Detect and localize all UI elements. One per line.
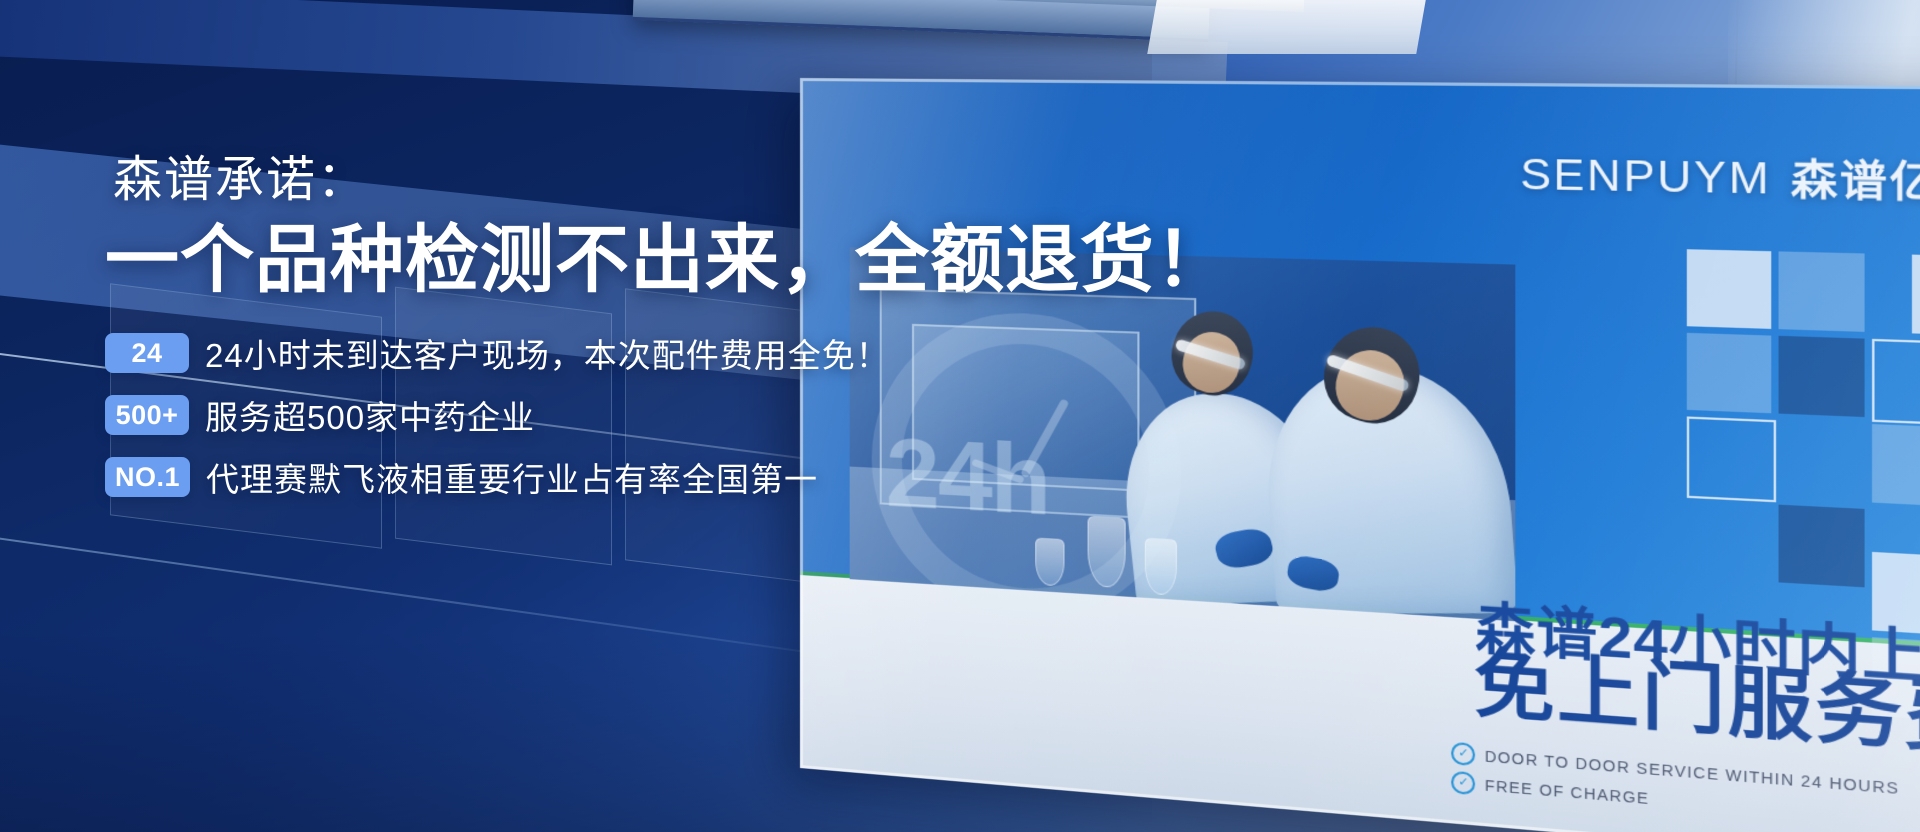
check-circle-icon: ✓	[1452, 742, 1476, 766]
promo-bullet-item: 24 24小时未到达客户现场，本次配件费用全免！	[105, 329, 1165, 377]
mosaic-square	[1687, 333, 1771, 413]
check-circle-icon: ✓	[1452, 771, 1476, 796]
mosaic-square	[1872, 424, 1920, 507]
mosaic-square	[1779, 336, 1865, 417]
promo-bullet-list: 24 24小时未到达客户现场，本次配件费用全免！ 500+ 服务超500家中药企…	[105, 329, 1165, 501]
logo-text-cn: 森谱亿铭	[1791, 145, 1920, 210]
mosaic-square	[1687, 416, 1776, 502]
promo-bullet-item: NO.1 代理赛默飞液相重要行业占有率全国第一	[105, 453, 1165, 501]
mosaic-square	[1912, 255, 1920, 337]
promo-badge: 500+	[105, 395, 189, 435]
promo-copy-overlay: 森谱承诺： 一个品种检测不出来，全额退货！ 24 24小时未到达客户现场，本次配…	[105, 140, 1165, 501]
promo-bullet-label: 代理赛默飞液相重要行业占有率全国第一	[206, 453, 818, 501]
mosaic-square	[1779, 505, 1865, 588]
mosaic-square	[1779, 251, 1865, 331]
promo-bullet-label: 服务超500家中药企业	[205, 391, 535, 439]
ceiling-light-strip	[1147, 0, 1425, 54]
mosaic-square	[1687, 249, 1771, 329]
mosaic-square	[1872, 339, 1920, 426]
promo-badge: NO.1	[105, 457, 190, 497]
billboard-logo: SENPUYM 森谱亿铭	[1520, 141, 1920, 210]
promo-bullet-label: 24小时未到达客户现场，本次配件费用全免！	[205, 329, 890, 377]
logo-text-en: SENPUYM	[1520, 151, 1771, 204]
hero-banner: 24h SENPUYM 森谱亿铭 森谱24小时内上门 免上门服务费	[0, 0, 1920, 832]
promo-eyebrow: 森谱承诺：	[113, 140, 1165, 211]
promo-headline: 一个品种检测不出来，全额退货！	[105, 221, 1165, 299]
promo-badge: 24	[105, 333, 189, 373]
promo-bullet-item: 500+ 服务超500家中药企业	[105, 391, 1165, 439]
